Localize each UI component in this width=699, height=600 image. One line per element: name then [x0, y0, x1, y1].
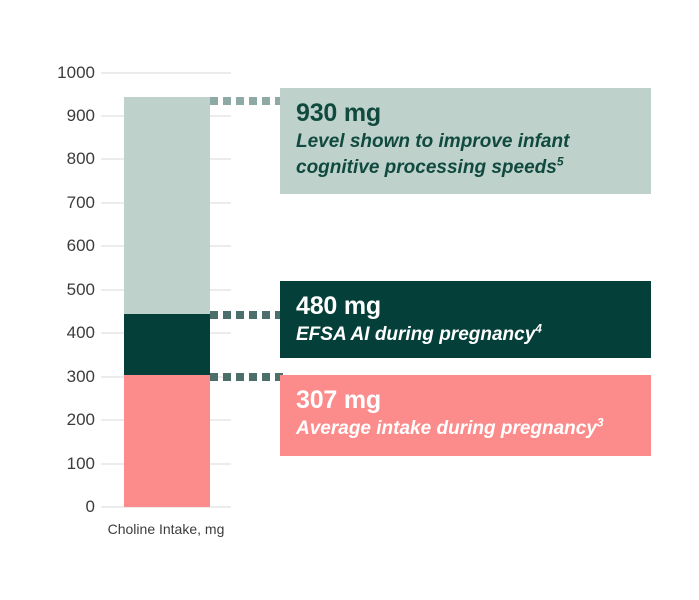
ytick-0: 0: [39, 498, 95, 515]
ytick-500: 500: [39, 281, 95, 298]
connector-line-307: [210, 373, 282, 381]
ytick-900: 900: [39, 107, 95, 124]
callout-930-superscript: 5: [557, 155, 564, 169]
callout-930-description: Level shown to improve infant cognitive …: [296, 129, 635, 181]
ytick-300: 300: [39, 368, 95, 385]
callout-480-desc-line1: EFSA AI during pregnancy: [296, 324, 535, 345]
ytick-800: 800: [39, 150, 95, 167]
ytick-700: 700: [39, 194, 95, 211]
connector-line-930: [210, 97, 282, 105]
choline-intake-stacked-bar-chart: 1000 900 800 700 600 500 400 300 200 100…: [0, 0, 699, 600]
callout-307-description: Average intake during pregnancy3: [296, 416, 635, 442]
ytick-100: 100: [39, 455, 95, 472]
x-axis-label: Choline Intake, mg: [66, 521, 266, 537]
connector-line-480: [210, 311, 282, 319]
bar-segment-307-average: [124, 375, 210, 507]
ytick-600: 600: [39, 237, 95, 254]
callout-box-930: 930 mg Level shown to improve infant cog…: [280, 88, 651, 194]
callout-480-superscript: 4: [535, 322, 542, 336]
callout-307-amount: 307 mg: [296, 385, 635, 416]
callout-930-desc-line1: Level shown to improve infant: [296, 131, 569, 152]
ytick-400: 400: [39, 324, 95, 341]
callout-307-superscript: 3: [597, 416, 604, 430]
callout-480-amount: 480 mg: [296, 291, 635, 322]
bar-segment-480-efsa: [124, 314, 210, 375]
gridline-1000: [101, 72, 231, 74]
callout-box-480: 480 mg EFSA AI during pregnancy4: [280, 281, 651, 358]
bar-segment-930-high: [124, 97, 210, 314]
ytick-1000: 1000: [39, 64, 95, 81]
callout-307-desc-line1: Average intake during pregnancy: [296, 418, 597, 439]
callout-box-307: 307 mg Average intake during pregnancy3: [280, 375, 651, 456]
callout-480-description: EFSA AI during pregnancy4: [296, 322, 635, 348]
ytick-200: 200: [39, 411, 95, 428]
callout-930-desc-line2: cognitive processing speeds: [296, 157, 557, 178]
callout-930-amount: 930 mg: [296, 98, 635, 129]
